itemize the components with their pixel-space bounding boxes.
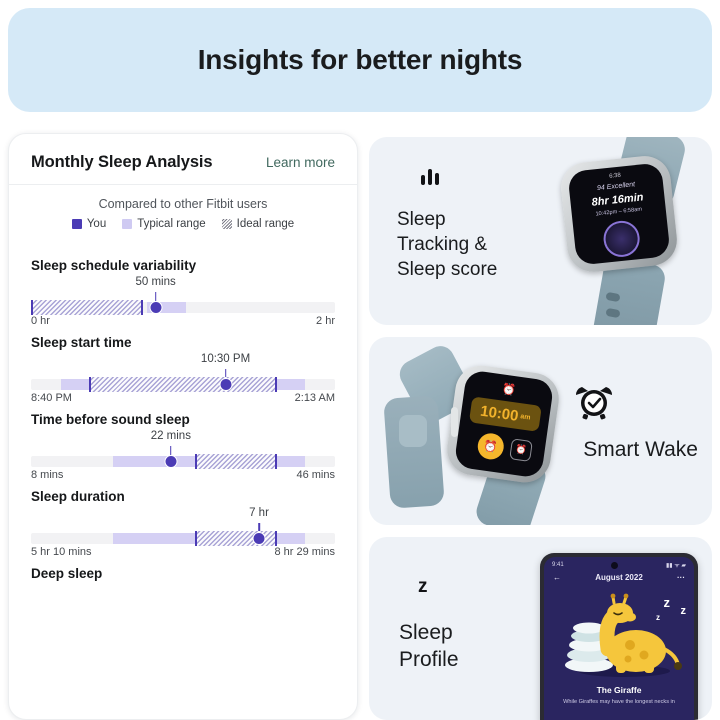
metric-title: Deep sleep bbox=[31, 566, 335, 581]
metric-title: Sleep schedule variability bbox=[31, 258, 335, 273]
header-banner: Insights for better nights bbox=[8, 8, 712, 112]
z-medium-icon: z bbox=[681, 605, 687, 617]
legend-item-typical-range: Typical range bbox=[122, 218, 205, 230]
z-large-icon: z bbox=[664, 595, 671, 610]
you-marker-dot[interactable] bbox=[164, 455, 177, 468]
sleep-profile-animal-name: The Giraffe bbox=[544, 685, 694, 695]
status-icons: ▮▮ ᯤ ▰ bbox=[666, 561, 686, 569]
alarm-confirm-button[interactable]: ⏰ bbox=[476, 432, 505, 461]
card-label-sleep-tracking: Sleep Tracking & Sleep score bbox=[397, 207, 497, 282]
fitbit-watch-alarm-illustration: ⏰ 10:00am ⏰ ⏰ bbox=[379, 345, 569, 523]
label-line-1: Sleep bbox=[399, 619, 459, 646]
moon-bars-icon bbox=[397, 163, 439, 202]
metric-plot: 7 hr 5 hr 10 mins 8 hr 29 mins bbox=[31, 506, 335, 552]
label-line-2: Profile bbox=[399, 646, 459, 673]
metric-axis: 0 hr 2 hr bbox=[31, 315, 335, 327]
chart-legend: You Typical range Ideal range bbox=[9, 218, 357, 244]
camera-notch-icon bbox=[611, 562, 618, 569]
learn-more-link[interactable]: Learn more bbox=[266, 155, 335, 170]
typical-range-swatch-icon bbox=[122, 219, 132, 229]
axis-max-label: 2:13 AM bbox=[295, 392, 335, 404]
metric-axis: 8:40 PM 2:13 AM bbox=[31, 392, 335, 404]
alarm-top-icon: ⏰ bbox=[501, 382, 516, 397]
card-smart-wake[interactable]: ⏰ 10:00am ⏰ ⏰ Smart Wake bbox=[369, 337, 712, 525]
svg-text:z: z bbox=[418, 576, 428, 597]
label-line-3: Sleep score bbox=[397, 257, 497, 282]
phone-screen: 9:41 ▮▮ ᯤ ▰ ← August 2022 ··· bbox=[544, 557, 694, 720]
axis-max-label: 8 hr 29 mins bbox=[274, 546, 335, 558]
card-label-smart-wake: Smart Wake bbox=[583, 437, 698, 462]
metric-deep-sleep: Deep sleep bbox=[9, 566, 357, 581]
giraffe-illustration: z z z bbox=[544, 587, 694, 683]
you-marker-dot[interactable] bbox=[219, 378, 232, 391]
phone-illustration: 9:41 ▮▮ ᯤ ▰ ← August 2022 ··· bbox=[540, 553, 698, 720]
metric-value-label: 50 mins bbox=[135, 276, 175, 288]
metric-track bbox=[31, 456, 335, 467]
alarm-clock-icon bbox=[572, 379, 616, 426]
metric-title: Sleep start time bbox=[31, 335, 335, 350]
metric-title: Time before sound sleep bbox=[31, 412, 335, 427]
monthly-sleep-analysis-card: Monthly Sleep Analysis Learn more Compar… bbox=[8, 133, 358, 720]
page-title: Insights for better nights bbox=[198, 44, 523, 76]
you-swatch-icon bbox=[72, 219, 82, 229]
ideal-range-swatch-icon bbox=[222, 219, 232, 229]
axis-min-label: 5 hr 10 mins bbox=[31, 546, 92, 558]
fitbit-watch-illustration: 6:38 94 Excellent 8hr 16min 10:42pm – 6:… bbox=[528, 143, 712, 325]
metric-track bbox=[31, 379, 335, 390]
metric-axis: 8 mins 46 mins bbox=[31, 469, 335, 481]
card-header: Monthly Sleep Analysis Learn more bbox=[9, 134, 357, 185]
metric-time-before-sound-sleep: Time before sound sleep 22 mins 8 mins 4… bbox=[9, 412, 357, 475]
phone-app-bar: ← August 2022 ··· bbox=[544, 570, 694, 587]
metric-sleep-duration: Sleep duration 7 hr 5 hr 10 mins 8 hr 29… bbox=[9, 489, 357, 552]
metric-track bbox=[31, 533, 335, 544]
metric-plot: 10:30 PM 8:40 PM 2:13 AM bbox=[31, 352, 335, 398]
sleep-score-dial-icon bbox=[602, 219, 642, 259]
legend-label-you: You bbox=[87, 218, 106, 230]
metric-value-label: 7 hr bbox=[249, 507, 269, 519]
phone-status-bar: 9:41 ▮▮ ᯤ ▰ bbox=[544, 557, 694, 570]
legend-label-ideal-range: Ideal range bbox=[237, 218, 295, 230]
metric-sleep-schedule-variability: Sleep schedule variability 50 mins 0 hr … bbox=[9, 258, 357, 321]
alarm-time-display: 10:00am bbox=[469, 396, 542, 431]
app-bar-title: August 2022 bbox=[595, 573, 643, 582]
label-line-2: Tracking & bbox=[397, 232, 497, 257]
axis-min-label: 0 hr bbox=[31, 315, 50, 327]
ideal-range-band bbox=[195, 454, 277, 469]
moon-z-icon: z bbox=[399, 567, 439, 608]
metric-axis: 5 hr 10 mins 8 hr 29 mins bbox=[31, 546, 335, 558]
alarm-meridiem: am bbox=[520, 413, 531, 421]
metric-track bbox=[31, 302, 335, 313]
axis-max-label: 2 hr bbox=[316, 315, 335, 327]
card-sleep-tracking[interactable]: Sleep Tracking & Sleep score 6:38 94 Exc… bbox=[369, 137, 712, 325]
card-subtitle: Compared to other Fitbit users bbox=[9, 185, 357, 218]
legend-label-typical-range: Typical range bbox=[137, 218, 205, 230]
you-marker-dot[interactable] bbox=[253, 532, 266, 545]
more-options-icon[interactable]: ··· bbox=[677, 573, 685, 582]
metric-plot: 50 mins 0 hr 2 hr bbox=[31, 275, 335, 321]
axis-min-label: 8 mins bbox=[31, 469, 63, 481]
legend-item-you: You bbox=[72, 218, 106, 230]
metric-plot: 22 mins 8 mins 46 mins bbox=[31, 429, 335, 475]
axis-max-label: 46 mins bbox=[296, 469, 335, 481]
status-time: 9:41 bbox=[552, 562, 564, 568]
axis-min-label: 8:40 PM bbox=[31, 392, 72, 404]
sleep-profile-description: While Giraffes may have the longest neck… bbox=[544, 698, 694, 706]
ideal-range-band bbox=[89, 377, 277, 392]
card-label-sleep-profile: Sleep Profile bbox=[399, 619, 459, 673]
label-line-1: Sleep bbox=[397, 207, 497, 232]
metric-value-label: 10:30 PM bbox=[201, 353, 250, 365]
you-marker-dot[interactable] bbox=[149, 301, 162, 314]
legend-item-ideal-range: Ideal range bbox=[222, 218, 295, 230]
card-sleep-profile[interactable]: z Sleep Profile 9:41 ▮▮ ᯤ ▰ ← August 202… bbox=[369, 537, 712, 720]
ideal-range-band bbox=[31, 300, 143, 315]
card-title: Monthly Sleep Analysis bbox=[31, 153, 212, 172]
metric-value-label: 22 mins bbox=[151, 430, 191, 442]
insights-page: Insights for better nights Monthly Sleep… bbox=[0, 0, 720, 720]
back-arrow-icon[interactable]: ← bbox=[553, 573, 561, 582]
z-small-icon: z bbox=[656, 613, 660, 622]
alarm-time-value: 10:00 bbox=[479, 402, 519, 424]
metric-sleep-start-time: Sleep start time 10:30 PM 8:40 PM 2:13 A… bbox=[9, 335, 357, 398]
alarm-dismiss-button[interactable]: ⏰ bbox=[509, 438, 533, 462]
metric-title: Sleep duration bbox=[31, 489, 335, 504]
